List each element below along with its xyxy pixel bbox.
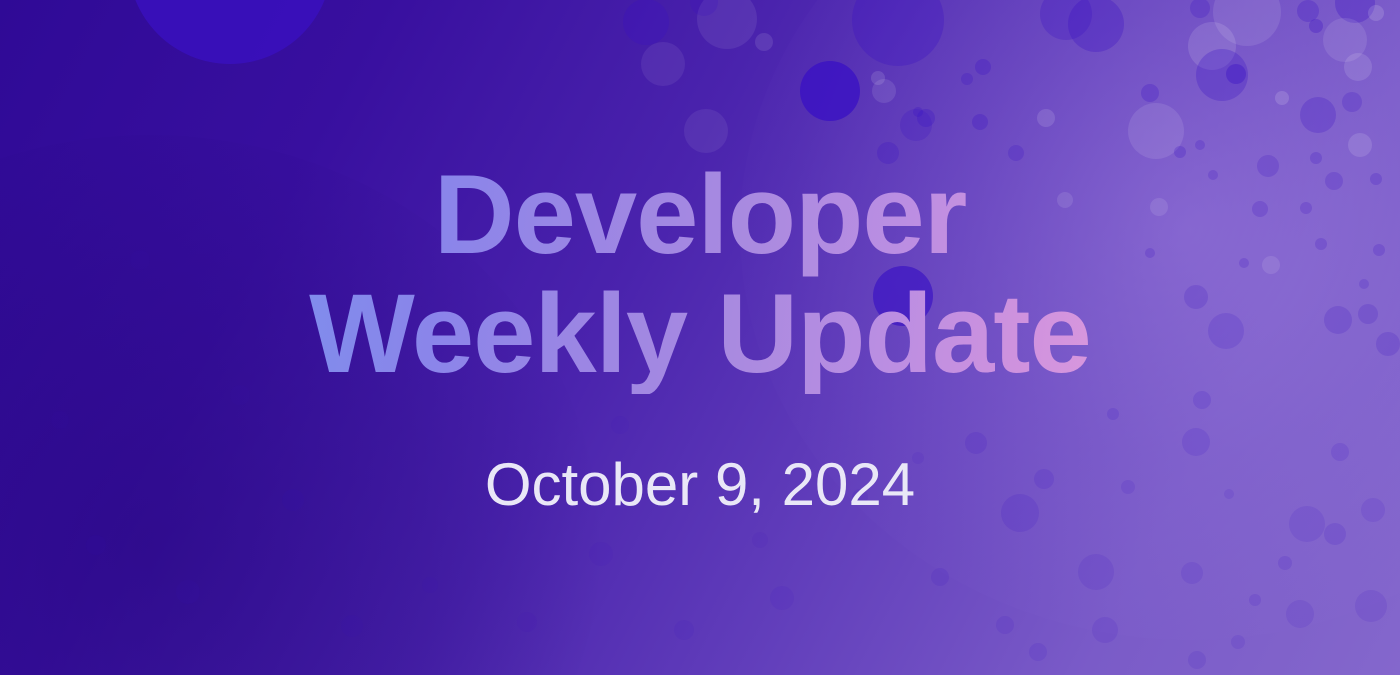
headline-line-2: Weekly Update [309, 275, 1091, 394]
issue-date: October 9, 2024 [485, 450, 915, 519]
banner-text-stack: Developer Weekly Update October 9, 2024 [0, 0, 1400, 675]
developer-weekly-update-banner: Developer Weekly Update October 9, 2024 [0, 0, 1400, 675]
headline-line-1: Developer [309, 156, 1091, 275]
page-title: Developer Weekly Update [303, 156, 1097, 393]
